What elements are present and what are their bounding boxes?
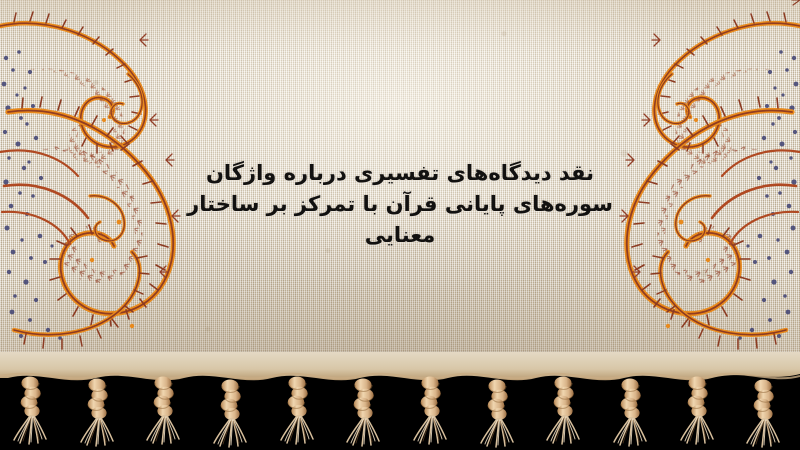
dark-backdrop	[0, 372, 800, 450]
title-line-2: سوره‌های پایانی قرآن با تمرکز بر ساختار	[170, 189, 630, 220]
title-block: نقد دیدگاه‌های تفسیری درباره واژگان سوره…	[170, 158, 630, 251]
title-line-1: نقد دیدگاه‌های تفسیری درباره واژگان	[170, 158, 630, 189]
title-card: نقد دیدگاه‌های تفسیری درباره واژگان سوره…	[0, 0, 800, 450]
title-line-3: معنایی	[170, 220, 630, 251]
